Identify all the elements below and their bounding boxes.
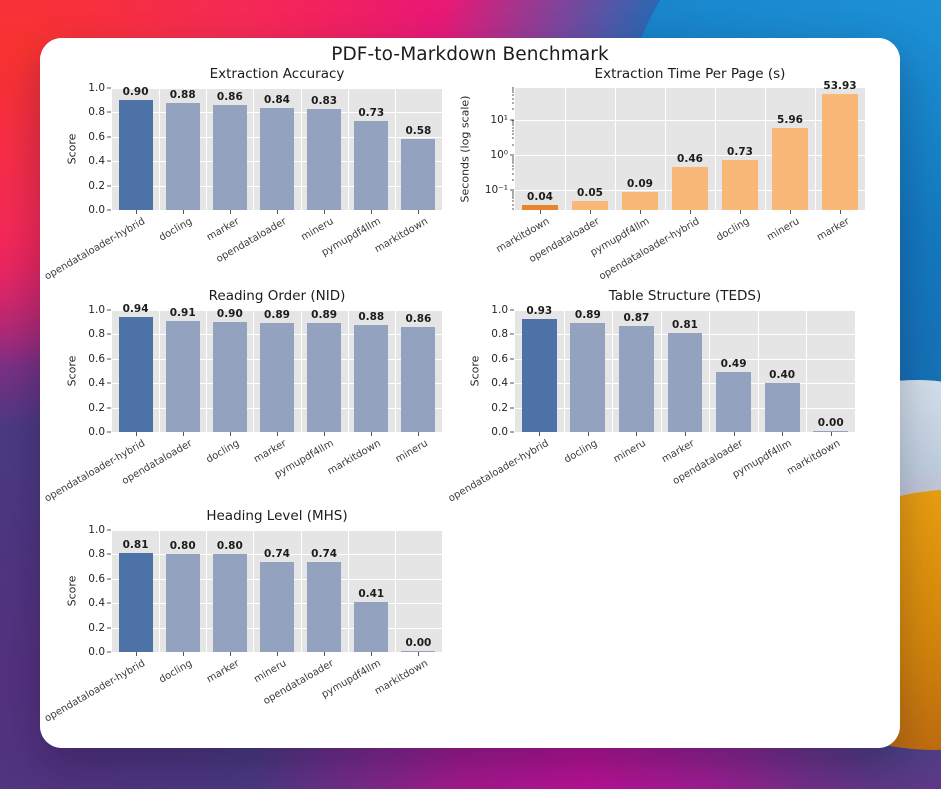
- plot-area: Score0.00.20.40.60.81.00.81opendataloade…: [112, 530, 442, 652]
- x-tick-label: mineru: [252, 658, 288, 685]
- x-tick-mark: [277, 210, 278, 214]
- y-axis-label: Score: [66, 576, 79, 607]
- x-tick-mark: [230, 210, 231, 214]
- bar: 0.94: [119, 317, 153, 432]
- bar-value-label: 0.88: [358, 311, 384, 323]
- y-tick-label: 0.8: [88, 106, 112, 118]
- x-tick-mark: [324, 652, 325, 656]
- x-tick-mark: [324, 210, 325, 214]
- x-tick-mark: [418, 210, 419, 214]
- y-tick-label: 0.0: [88, 204, 112, 216]
- y-tick-label: 0.2: [88, 180, 112, 192]
- bar-value-label: 0.81: [123, 539, 149, 551]
- bar-value-label: 0.74: [311, 548, 337, 560]
- x-tick-mark: [840, 210, 841, 214]
- y-tick-label: 1.0: [88, 524, 112, 536]
- x-gridline: [612, 310, 613, 432]
- x-gridline: [395, 530, 396, 652]
- x-tick-mark: [183, 652, 184, 656]
- bar-value-label: 0.73: [727, 146, 753, 158]
- bar: 0.74: [307, 562, 341, 652]
- x-tick-mark: [690, 210, 691, 214]
- y-tick-label: 0.4: [88, 377, 112, 389]
- bar-value-label: 0.89: [575, 309, 601, 321]
- x-tick-mark: [324, 432, 325, 436]
- bar-value-label: 0.00: [818, 417, 844, 429]
- x-gridline: [159, 88, 160, 210]
- x-tick-label: docling: [715, 216, 752, 244]
- x-gridline: [564, 310, 565, 432]
- x-tick-mark: [539, 432, 540, 436]
- y-tick-label: 0.8: [88, 548, 112, 560]
- y-axis-label: Score: [469, 356, 482, 387]
- x-tick-mark: [418, 432, 419, 436]
- bar: 0.74: [260, 562, 294, 652]
- x-tick-mark: [136, 652, 137, 656]
- plot-area: Score0.00.20.40.60.81.00.90opendataloade…: [112, 88, 442, 210]
- x-tick-mark: [685, 432, 686, 436]
- bar-value-label: 5.96: [777, 114, 803, 126]
- plot-area: Seconds (log scale)10⁻¹10⁰10¹0.04markitd…: [515, 88, 865, 210]
- y-gridline: [112, 530, 442, 531]
- bar-value-label: 0.91: [170, 307, 196, 319]
- y-tick-label: 0.4: [88, 597, 112, 609]
- bar: 0.87: [619, 326, 654, 432]
- bar-value-label: 0.46: [677, 153, 703, 165]
- x-tick-label: opendataloader-hybrid: [43, 216, 147, 282]
- y-tick-label: 0.0: [88, 426, 112, 438]
- x-tick-mark: [183, 432, 184, 436]
- x-tick-mark: [277, 432, 278, 436]
- y-tick-label: 0.4: [491, 377, 515, 389]
- x-tick-mark: [183, 210, 184, 214]
- bar-value-label: 0.09: [627, 178, 653, 190]
- subplot-reading-order-nid: Reading Order (NID)Score0.00.20.40.60.81…: [112, 288, 442, 432]
- bar: 0.40: [765, 383, 800, 432]
- bar: 5.96: [772, 128, 808, 210]
- bar: 0.80: [213, 554, 247, 652]
- x-gridline: [348, 310, 349, 432]
- bar-value-label: 0.87: [623, 312, 649, 324]
- x-gridline: [806, 310, 807, 432]
- desktop-background: PDF-to-Markdown Benchmark Extraction Acc…: [0, 0, 941, 789]
- bar: 0.41: [354, 602, 388, 652]
- bar-value-label: 0.00: [405, 637, 431, 649]
- x-gridline: [159, 310, 160, 432]
- bar: 0.49: [716, 372, 751, 432]
- figure-card: PDF-to-Markdown Benchmark Extraction Acc…: [40, 38, 900, 748]
- x-tick-mark: [136, 210, 137, 214]
- x-gridline: [348, 88, 349, 210]
- bar: 0.09: [622, 192, 658, 210]
- y-tick-label: 1.0: [88, 304, 112, 316]
- bar: 0.90: [213, 322, 247, 432]
- x-tick-label: opendataloader-hybrid: [43, 658, 147, 724]
- x-tick-label: marker: [815, 216, 851, 243]
- x-gridline: [709, 310, 710, 432]
- y-axis-label: Score: [66, 356, 79, 387]
- y-tick-label: 0.2: [88, 402, 112, 414]
- x-gridline: [206, 88, 207, 210]
- benchmark-figure: PDF-to-Markdown Benchmark Extraction Acc…: [40, 38, 900, 748]
- x-tick-mark: [136, 432, 137, 436]
- bar-value-label: 0.58: [405, 125, 431, 137]
- x-tick-mark: [640, 210, 641, 214]
- bar: 0.05: [572, 201, 608, 210]
- subplot-title: Table Structure (TEDS): [515, 288, 855, 304]
- y-gridline: [112, 88, 442, 89]
- x-tick-mark: [734, 432, 735, 436]
- x-gridline: [395, 88, 396, 210]
- y-tick-label: 0.6: [88, 131, 112, 143]
- y-tick-label: 0.0: [88, 646, 112, 658]
- subplot-title: Extraction Time Per Page (s): [515, 66, 865, 82]
- bar-value-label: 0.81: [672, 319, 698, 331]
- x-tick-mark: [590, 210, 591, 214]
- bar-value-label: 0.93: [526, 305, 552, 317]
- x-tick-mark: [790, 210, 791, 214]
- x-tick-mark: [371, 432, 372, 436]
- x-tick-mark: [230, 432, 231, 436]
- bar: 0.83: [307, 109, 341, 210]
- x-tick-mark: [540, 210, 541, 214]
- x-gridline: [348, 530, 349, 652]
- bar-value-label: 0.84: [264, 94, 290, 106]
- bar-value-label: 0.41: [358, 588, 384, 600]
- x-tick-mark: [418, 652, 419, 656]
- y-gridline: [515, 120, 865, 121]
- x-gridline: [565, 88, 566, 210]
- bar-value-label: 0.73: [358, 107, 384, 119]
- bar: 0.88: [354, 325, 388, 432]
- y-tick-label: 1.0: [88, 82, 112, 94]
- y-gridline: [515, 310, 855, 311]
- plot-area: Score0.00.20.40.60.81.00.94opendataloade…: [112, 310, 442, 432]
- bar: 0.89: [570, 323, 605, 432]
- y-axis-label: Seconds (log scale): [459, 96, 472, 203]
- bar-value-label: 0.88: [170, 89, 196, 101]
- bar-value-label: 0.90: [123, 86, 149, 98]
- bar: 0.91: [166, 321, 200, 432]
- bar: 0.46: [672, 167, 708, 210]
- x-tick-label: marker: [205, 658, 241, 685]
- x-gridline: [253, 310, 254, 432]
- y-tick-label: 0.2: [491, 402, 515, 414]
- x-tick-label: markitdown: [785, 438, 842, 477]
- subplot-table-structure-teds: Table Structure (TEDS)Score0.00.20.40.60…: [515, 288, 855, 432]
- subplot-heading-level-mhs: Heading Level (MHS)Score0.00.20.40.60.81…: [112, 508, 442, 652]
- x-gridline: [661, 310, 662, 432]
- bar: 53.93: [822, 94, 858, 210]
- plot-area: Score0.00.20.40.60.81.00.93opendataloade…: [515, 310, 855, 432]
- x-gridline: [206, 530, 207, 652]
- subplot-extraction-time-per-page: Extraction Time Per Page (s)Seconds (log…: [515, 66, 865, 210]
- y-tick-label: 10⁻¹: [485, 184, 515, 196]
- subplot-title: Reading Order (NID): [112, 288, 442, 304]
- x-tick-label: markitdown: [373, 658, 430, 697]
- x-tick-label: docling: [562, 438, 599, 466]
- y-tick-label: 0.8: [491, 328, 515, 340]
- bar: 0.73: [722, 160, 758, 210]
- bar: 0.89: [307, 323, 341, 432]
- figure-suptitle: PDF-to-Markdown Benchmark: [40, 44, 900, 65]
- x-tick-label: mineru: [612, 438, 648, 465]
- x-gridline: [301, 88, 302, 210]
- x-tick-label: mineru: [299, 216, 335, 243]
- x-tick-label: docling: [204, 438, 241, 466]
- x-tick-mark: [371, 210, 372, 214]
- y-tick-label: 0.4: [88, 155, 112, 167]
- x-tick-label: marker: [205, 216, 241, 243]
- x-tick-mark: [740, 210, 741, 214]
- x-gridline: [206, 310, 207, 432]
- x-tick-label: docling: [157, 658, 194, 686]
- bar-value-label: 0.05: [577, 187, 603, 199]
- x-gridline: [615, 88, 616, 210]
- x-gridline: [815, 88, 816, 210]
- x-tick-label: mineru: [765, 216, 801, 243]
- bar-value-label: 0.86: [405, 313, 431, 325]
- bar-value-label: 0.40: [769, 369, 795, 381]
- bar: 0.84: [260, 108, 294, 210]
- bar-value-label: 0.89: [311, 309, 337, 321]
- bar: 0.81: [668, 333, 703, 432]
- y-axis-label: Score: [66, 134, 79, 165]
- bar: 0.73: [354, 121, 388, 210]
- y-tick-label: 0.2: [88, 622, 112, 634]
- y-tick-label: 0.6: [491, 353, 515, 365]
- x-tick-mark: [588, 432, 589, 436]
- bar: 0.89: [260, 323, 294, 432]
- x-gridline: [715, 88, 716, 210]
- x-gridline: [301, 310, 302, 432]
- x-tick-mark: [782, 432, 783, 436]
- bar: 0.58: [401, 139, 435, 210]
- x-tick-mark: [636, 432, 637, 436]
- x-tick-label: docling: [157, 216, 194, 244]
- x-tick-label: markitdown: [326, 438, 383, 477]
- x-gridline: [395, 310, 396, 432]
- x-tick-label: opendataloader-hybrid: [447, 438, 551, 504]
- y-tick-label: 0.6: [88, 573, 112, 585]
- bar: 0.90: [119, 100, 153, 210]
- x-tick-mark: [230, 652, 231, 656]
- subplot-extraction-accuracy: Extraction AccuracyScore0.00.20.40.60.81…: [112, 66, 442, 210]
- bar-value-label: 0.94: [123, 303, 149, 315]
- bar-value-label: 0.04: [527, 191, 553, 203]
- y-tick-label: 0.8: [88, 328, 112, 340]
- bar-value-label: 53.93: [823, 80, 856, 92]
- bar-value-label: 0.49: [721, 358, 747, 370]
- bar: 0.93: [522, 319, 557, 432]
- subplot-title: Heading Level (MHS): [112, 508, 442, 524]
- x-tick-label: mineru: [394, 438, 430, 465]
- x-tick-mark: [831, 432, 832, 436]
- bar-value-label: 0.80: [170, 540, 196, 552]
- x-gridline: [253, 88, 254, 210]
- x-gridline: [301, 530, 302, 652]
- bar: 0.86: [213, 105, 247, 210]
- x-tick-mark: [371, 652, 372, 656]
- x-gridline: [665, 88, 666, 210]
- bar: 0.81: [119, 553, 153, 652]
- y-tick-label: 1.0: [491, 304, 515, 316]
- x-tick-label: marker: [660, 438, 696, 465]
- bar: 0.88: [166, 103, 200, 210]
- x-gridline: [159, 530, 160, 652]
- bar-value-label: 0.89: [264, 309, 290, 321]
- x-tick-label: markitdown: [373, 216, 430, 255]
- bar-value-label: 0.80: [217, 540, 243, 552]
- bar: 0.80: [166, 554, 200, 652]
- x-tick-label: marker: [252, 438, 288, 465]
- subplot-title: Extraction Accuracy: [112, 66, 442, 82]
- x-gridline: [253, 530, 254, 652]
- bar-value-label: 0.86: [217, 91, 243, 103]
- bar-value-label: 0.74: [264, 548, 290, 560]
- x-tick-mark: [277, 652, 278, 656]
- bar-value-label: 0.83: [311, 95, 337, 107]
- y-tick-label: 0.0: [491, 426, 515, 438]
- bar: 0.86: [401, 327, 435, 432]
- bar-value-label: 0.90: [217, 308, 243, 320]
- x-gridline: [765, 88, 766, 210]
- y-tick-label: 0.6: [88, 353, 112, 365]
- x-gridline: [758, 310, 759, 432]
